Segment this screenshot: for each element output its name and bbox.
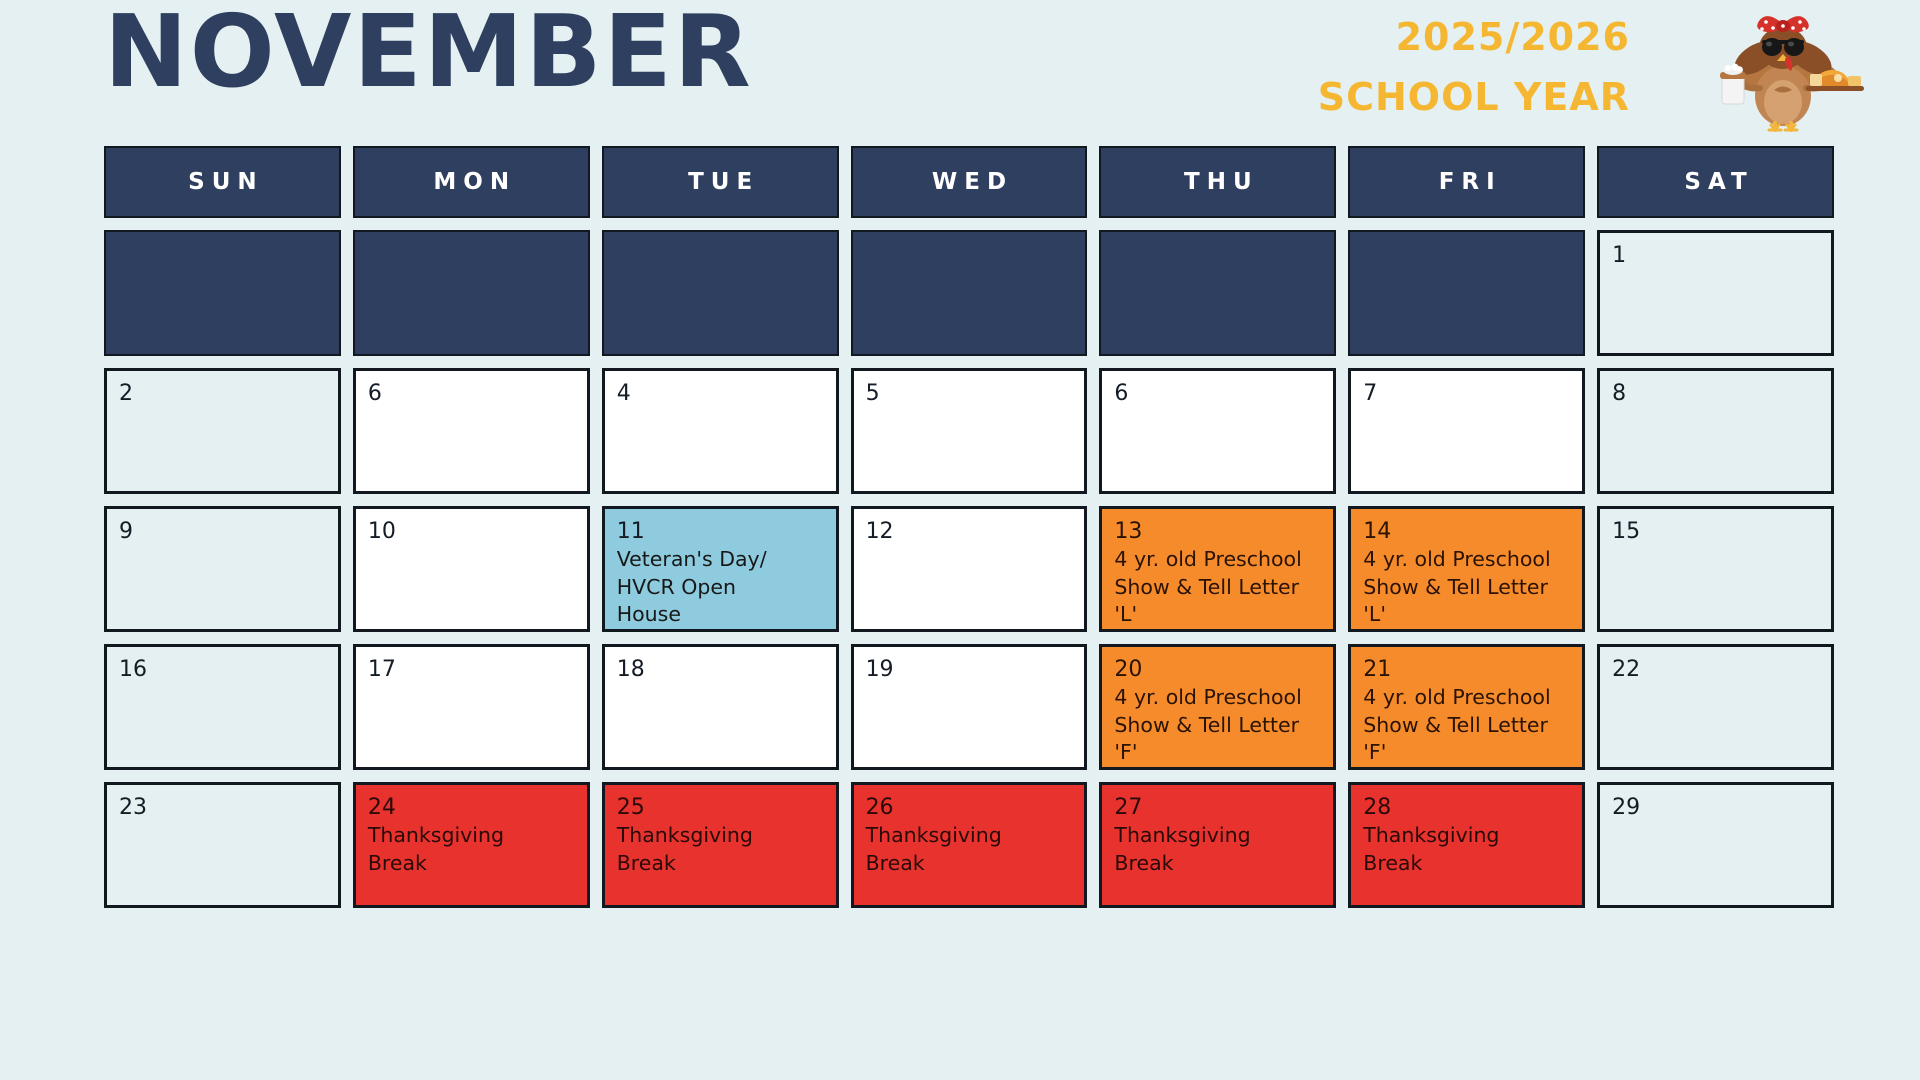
day-number: 4 [617,381,824,406]
day-event-text: Thanksgiving Break [866,822,1073,877]
weekday-header-label: SUN [181,169,264,195]
day-number: 25 [617,795,824,820]
day-event-text: Thanksgiving Break [368,822,575,877]
day-number: 11 [617,519,824,544]
day-number: 8 [1612,381,1819,406]
calendar-day-cell[interactable]: 22 [1597,644,1834,770]
day-number: 13 [1114,519,1321,544]
day-number: 24 [368,795,575,820]
weekday-header-label: SAT [1677,169,1753,195]
day-number: 21 [1363,657,1570,682]
calendar-day-cell[interactable]: 8 [1597,368,1834,494]
day-number: 12 [866,519,1073,544]
calendar-day-cell[interactable]: 24Thanksgiving Break [353,782,590,908]
calendar-header: NOVEMBER 2025/2026 SCHOOL YEAR [0,0,1920,140]
weekday-header-fri: FRI [1348,146,1585,218]
calendar-day-cell[interactable]: 134 yr. old Preschool Show & Tell Letter… [1099,506,1336,632]
calendar-day-cell[interactable]: 15 [1597,506,1834,632]
calendar-day-cell[interactable]: 12 [851,506,1088,632]
calendar-day-cell[interactable]: 28Thanksgiving Break [1348,782,1585,908]
day-event-text: Thanksgiving Break [1114,822,1321,877]
day-number: 14 [1363,519,1570,544]
calendar-day-cell[interactable]: 10 [353,506,590,632]
calendar-day-cell[interactable]: 27Thanksgiving Break [1099,782,1336,908]
calendar-day-cell[interactable]: 29 [1597,782,1834,908]
day-number: 27 [1114,795,1321,820]
day-event-text: 4 yr. old Preschool Show & Tell Letter '… [1114,546,1321,628]
calendar-day-cell[interactable]: 18 [602,644,839,770]
calendar-day-cell[interactable]: 19 [851,644,1088,770]
day-event-text: Veteran's Day/ HVCR Open House [617,546,824,628]
day-number: 29 [1612,795,1819,820]
day-number: 9 [119,519,326,544]
day-number: 18 [617,657,824,682]
calendar-day-cell[interactable]: 17 [353,644,590,770]
weekday-header-sun: SUN [104,146,341,218]
calendar-day-cell[interactable]: 9 [104,506,341,632]
school-year-range: 2025/2026 [1318,14,1630,62]
weekday-header-mon: MON [353,146,590,218]
day-number: 23 [119,795,326,820]
calendar-day-cell[interactable]: 6 [353,368,590,494]
day-number: 1 [1612,243,1819,268]
weekday-header-label: WED [925,169,1013,195]
day-event-text: 4 yr. old Preschool Show & Tell Letter '… [1363,684,1570,766]
day-number: 7 [1363,381,1570,406]
calendar-day-cell[interactable]: 2 [104,368,341,494]
day-number: 6 [368,381,575,406]
day-number: 17 [368,657,575,682]
day-number: 6 [1114,381,1321,406]
weekday-header-label: MON [426,169,516,195]
calendar-day-cell[interactable]: 11Veteran's Day/ HVCR Open House [602,506,839,632]
calendar-day-cell[interactable]: 5 [851,368,1088,494]
turkey-mascot-icon [1698,2,1868,132]
calendar-cell-empty [353,230,590,356]
calendar-day-cell[interactable]: 23 [104,782,341,908]
weekday-header-label: THU [1177,169,1259,195]
calendar-day-cell[interactable]: 16 [104,644,341,770]
day-event-text: 4 yr. old Preschool Show & Tell Letter '… [1363,546,1570,628]
day-number: 20 [1114,657,1321,682]
calendar-cell-empty [1348,230,1585,356]
day-number: 2 [119,381,326,406]
calendar-day-cell[interactable]: 26Thanksgiving Break [851,782,1088,908]
day-number: 5 [866,381,1073,406]
weekday-header-tue: TUE [602,146,839,218]
calendar-day-cell[interactable]: 214 yr. old Preschool Show & Tell Letter… [1348,644,1585,770]
day-number: 26 [866,795,1073,820]
calendar-cell-empty [1099,230,1336,356]
day-event-text: 4 yr. old Preschool Show & Tell Letter '… [1114,684,1321,766]
page-title: NOVEMBER [104,0,753,108]
day-number: 22 [1612,657,1819,682]
day-number: 19 [866,657,1073,682]
day-number: 15 [1612,519,1819,544]
calendar-day-cell[interactable]: 1 [1597,230,1834,356]
calendar-day-cell[interactable]: 25Thanksgiving Break [602,782,839,908]
calendar-day-cell[interactable]: 204 yr. old Preschool Show & Tell Letter… [1099,644,1336,770]
calendar-day-cell[interactable]: 4 [602,368,839,494]
calendar-grid: SUNMONTUEWEDTHUFRISAT1264567891011Vetera… [104,146,1834,908]
day-number: 10 [368,519,575,544]
weekday-header-label: FRI [1432,169,1502,195]
day-number: 28 [1363,795,1570,820]
calendar-day-cell[interactable]: 6 [1099,368,1336,494]
day-number: 16 [119,657,326,682]
weekday-header-label: TUE [681,169,759,195]
school-year-label: SCHOOL YEAR [1318,74,1630,122]
calendar-day-cell[interactable]: 144 yr. old Preschool Show & Tell Letter… [1348,506,1585,632]
day-event-text: Thanksgiving Break [1363,822,1570,877]
day-event-text: Thanksgiving Break [617,822,824,877]
calendar-cell-empty [851,230,1088,356]
weekday-header-sat: SAT [1597,146,1834,218]
school-year-block: 2025/2026 SCHOOL YEAR [1318,14,1630,121]
calendar-cell-empty [104,230,341,356]
weekday-header-thu: THU [1099,146,1336,218]
calendar-cell-empty [602,230,839,356]
weekday-header-wed: WED [851,146,1088,218]
calendar-day-cell[interactable]: 7 [1348,368,1585,494]
